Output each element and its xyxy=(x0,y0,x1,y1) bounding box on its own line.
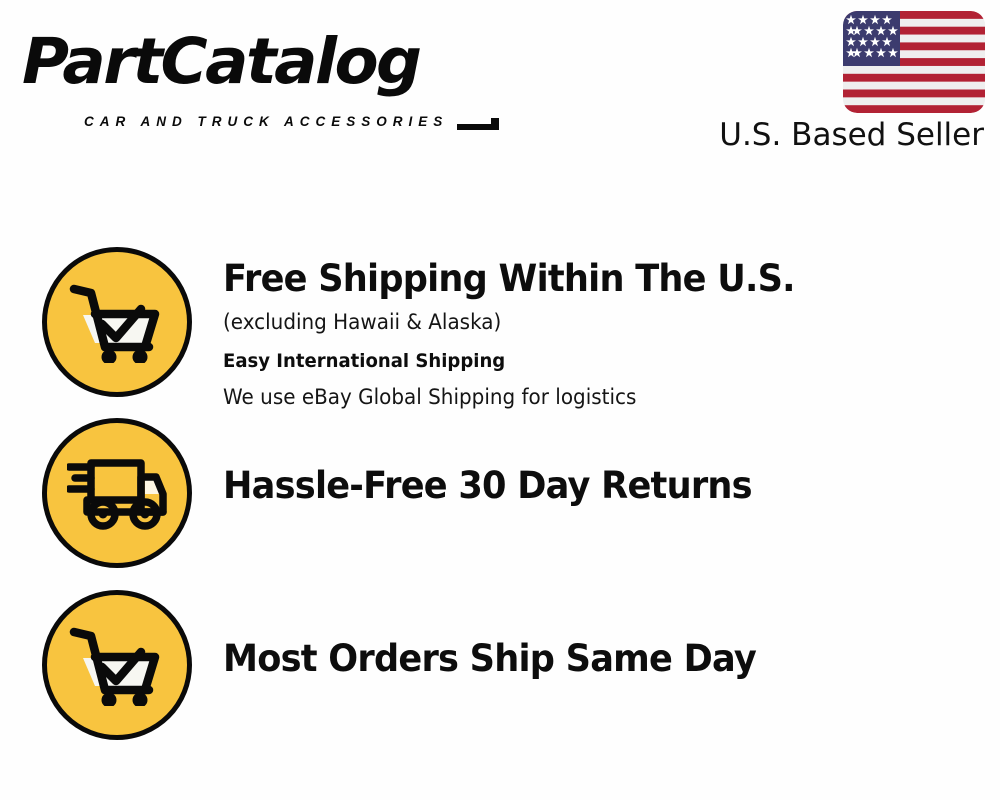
swoosh-accent-icon xyxy=(455,118,501,131)
sameday-headline: Most Orders Ship Same Day xyxy=(223,636,926,682)
returns-headline: Hassle-Free 30 Day Returns xyxy=(223,463,926,509)
feature-row-returns: Hassle-Free 30 Day Returns xyxy=(0,412,1000,577)
feature-row-shipping: Free Shipping Within The U.S. (excluding… xyxy=(0,240,1000,410)
us-flag-svg xyxy=(843,11,985,113)
brand-logo[interactable]: PartCatalog CAR AND TRUCK ACCESSORIES xyxy=(22,26,492,118)
shipping-subline: (excluding Hawaii & Alaska) xyxy=(223,302,926,338)
cart-check-glyph xyxy=(69,281,165,363)
cart-check-glyph xyxy=(69,624,165,706)
brand-tagline: CAR AND TRUCK ACCESSORIES xyxy=(84,114,448,130)
international-shipping-heading: Easy International Shipping xyxy=(223,338,926,377)
feature-row-sameday: Most Orders Ship Same Day xyxy=(0,584,1000,749)
shipping-text-column: Free Shipping Within The U.S. (excluding… xyxy=(223,240,963,413)
delivery-truck-icon xyxy=(42,418,192,568)
cart-check-icon xyxy=(42,247,192,397)
international-shipping-detail: We use eBay Global Shipping for logistic… xyxy=(223,377,926,413)
cart-check-icon xyxy=(42,590,192,740)
shipping-headline: Free Shipping Within The U.S. xyxy=(223,240,926,302)
us-flag-icon xyxy=(843,11,985,113)
delivery-truck-glyph xyxy=(67,456,167,530)
brand-wordmark: PartCatalog xyxy=(22,26,419,98)
returns-text-column: Hassle-Free 30 Day Returns xyxy=(223,412,963,509)
us-based-seller-label: U.S. Based Seller xyxy=(719,115,984,155)
sameday-text-column: Most Orders Ship Same Day xyxy=(223,584,963,682)
